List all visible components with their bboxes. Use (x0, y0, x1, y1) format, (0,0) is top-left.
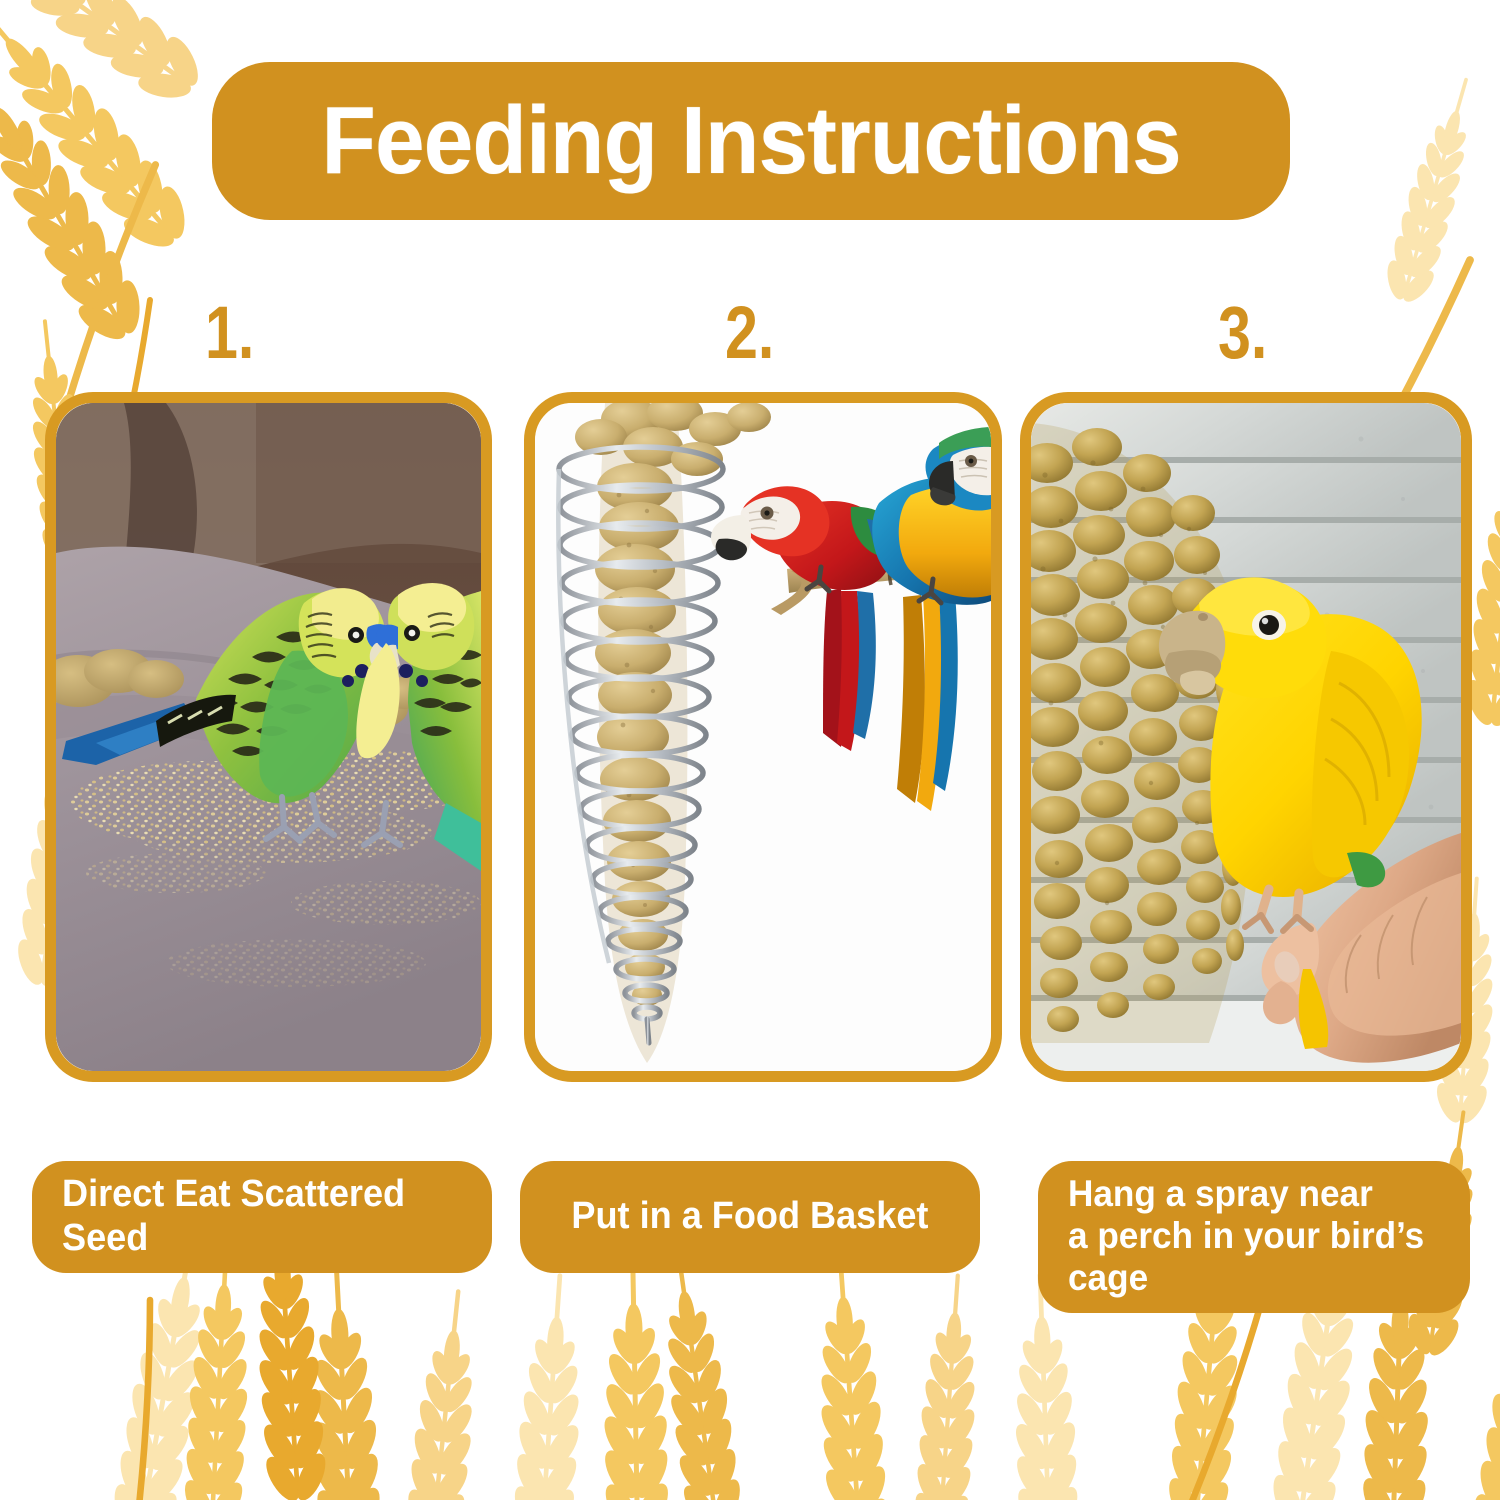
step-3-caption-pill: Hang a spray near a perch in your bird’s… (1038, 1161, 1470, 1313)
step-3-caption: Hang a spray near a perch in your bird’s… (1068, 1173, 1424, 1300)
step-1-caption: Direct Eat Scattered Seed (62, 1172, 446, 1260)
step-1-caption-pill: Direct Eat Scattered Seed (32, 1161, 492, 1273)
step-2-caption-pill: Put in a Food Basket (520, 1161, 980, 1273)
page-title-banner: Feeding Instructions (212, 62, 1290, 220)
step-2-photo (535, 403, 991, 1071)
page-title: Feeding Instructions (321, 93, 1180, 189)
step-3-photo-frame (1020, 392, 1472, 1082)
step-1-photo-frame (45, 392, 492, 1082)
step-number-2: 2. (725, 296, 774, 370)
step-number-3: 3. (1218, 296, 1267, 370)
step-1-photo (56, 403, 481, 1071)
infographic-canvas: Feeding Instructions 1. 2. 3. (0, 0, 1500, 1500)
step-2-photo-frame (524, 392, 1002, 1082)
step-3-photo (1031, 403, 1461, 1071)
step-number-1: 1. (205, 296, 254, 370)
step-2-caption: Put in a Food Basket (571, 1194, 928, 1238)
